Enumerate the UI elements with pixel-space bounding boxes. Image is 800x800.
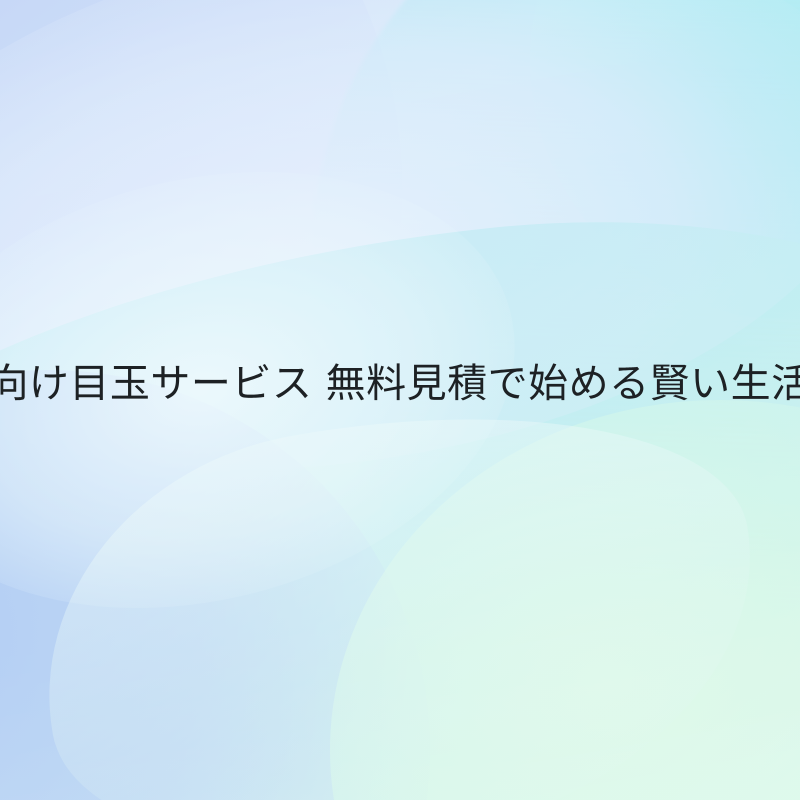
hero-banner: ア向け目玉サービス 無料見積で始める賢い生活の	[0, 0, 800, 800]
headline-container: ア向け目玉サービス 無料見積で始める賢い生活の	[0, 0, 800, 800]
banner-headline: ア向け目玉サービス 無料見積で始める賢い生活の	[0, 364, 800, 404]
